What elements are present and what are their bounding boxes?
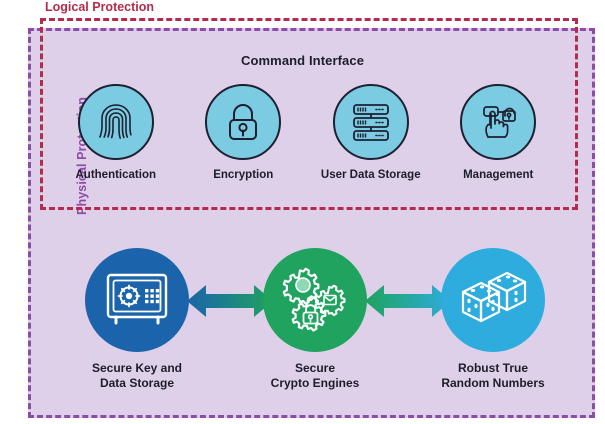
- command-item-authentication[interactable]: Authentication: [56, 84, 176, 181]
- encryption-circle: [205, 84, 281, 160]
- core-block-label-line1: Robust True: [441, 361, 544, 376]
- core-block-label-line1: Secure Key and: [92, 361, 182, 376]
- fingerprint-icon: [95, 100, 137, 144]
- padlock-icon: [223, 100, 263, 144]
- management-circle: [460, 84, 536, 160]
- diagram-canvas: Physical Protection Logical Protection C…: [0, 0, 605, 424]
- authentication-circle: [78, 84, 154, 160]
- command-item-management[interactable]: Management: [438, 84, 558, 181]
- secure-crypto-engines-circle: [263, 248, 367, 352]
- safe-vault-icon: [104, 270, 170, 330]
- command-item-label: Management: [463, 169, 533, 181]
- command-item-label: Encryption: [213, 169, 273, 181]
- core-block-label-line1: Secure: [271, 361, 360, 376]
- core-block-label-line2: Crypto Engines: [271, 376, 360, 391]
- command-interface-title: Command Interface: [0, 53, 605, 68]
- core-block-label: Secure Key and Data Storage: [92, 361, 182, 391]
- hand-unlock-icon: [475, 100, 521, 144]
- user-data-storage-circle: [333, 84, 409, 160]
- core-block-label-line2: Data Storage: [92, 376, 182, 391]
- dice-icon: [455, 268, 531, 332]
- random-numbers-circle: [441, 248, 545, 352]
- core-block-label-line2: Random Numbers: [441, 376, 544, 391]
- core-blocks-row: Secure Key and Data Storage: [40, 248, 585, 398]
- command-item-user-data-storage[interactable]: User Data Storage: [311, 84, 431, 181]
- secure-key-storage-circle: [85, 248, 189, 352]
- command-interface-row: Authentication Encryption: [52, 84, 562, 196]
- command-item-encryption[interactable]: Encryption: [183, 84, 303, 181]
- gears-icon: [278, 264, 352, 336]
- core-block-robust-true-random-numbers[interactable]: Robust True Random Numbers: [418, 248, 568, 391]
- command-item-label: User Data Storage: [321, 169, 421, 181]
- server-stack-icon: [348, 100, 394, 144]
- core-block-label: Secure Crypto Engines: [271, 361, 360, 391]
- core-block-label: Robust True Random Numbers: [441, 361, 544, 391]
- command-item-label: Authentication: [76, 169, 157, 181]
- logical-protection-label: Logical Protection: [45, 0, 154, 14]
